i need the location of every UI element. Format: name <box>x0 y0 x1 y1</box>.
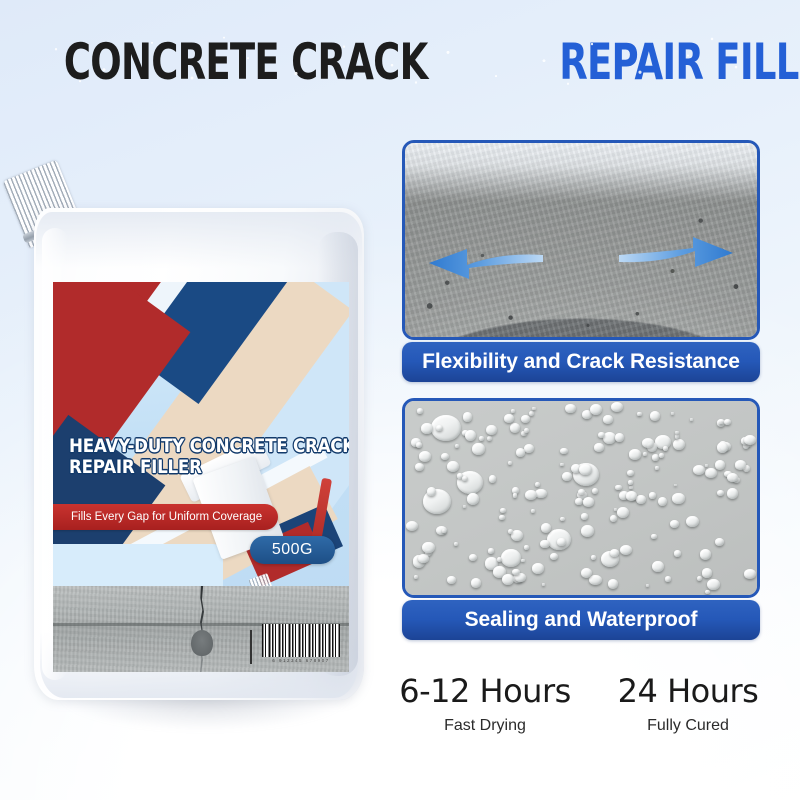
water-droplet <box>501 549 521 567</box>
water-droplet <box>637 412 642 417</box>
stat-fully-cured: 24 Hours Fully Cured <box>598 672 778 738</box>
water-droplet <box>550 553 558 560</box>
water-droplet <box>516 448 525 457</box>
water-droplet <box>659 453 664 458</box>
pouch-top-fold <box>36 212 362 268</box>
water-droplet <box>442 529 446 533</box>
water-droplet <box>627 470 634 476</box>
water-droplet <box>620 545 632 555</box>
water-droplet <box>508 461 512 465</box>
water-droplet <box>502 574 514 585</box>
water-droplet <box>417 408 423 414</box>
water-droplet <box>463 412 472 421</box>
water-droplet <box>615 485 621 491</box>
water-droplet <box>565 404 575 413</box>
stat-fully-cured-value: 24 Hours <box>598 672 778 710</box>
water-droplet <box>724 419 731 425</box>
water-droplet <box>454 542 458 546</box>
arrow-right-icon <box>619 235 735 281</box>
product-pouch: HEAVY-DUTY CONCRETE CRACK REPAIR FILLER … <box>0 160 400 760</box>
water-droplet <box>471 578 481 588</box>
water-droplet <box>540 540 550 548</box>
water-droplet <box>697 576 702 581</box>
barcode: 6 912345 678907 <box>262 624 340 666</box>
water-droplet <box>531 509 535 513</box>
water-droplet <box>611 402 623 413</box>
water-droplet <box>615 433 624 442</box>
stat-fast-drying-value: 6-12 Hours <box>390 672 580 710</box>
water-droplet <box>671 412 674 415</box>
water-droplet <box>542 583 545 586</box>
water-droplet <box>651 534 657 540</box>
water-droplet <box>512 569 520 575</box>
water-droplet <box>581 513 589 520</box>
water-droplet <box>513 493 518 497</box>
water-droplet <box>617 507 629 518</box>
water-droplet <box>589 575 602 585</box>
water-droplet <box>603 415 614 424</box>
water-droplet <box>575 498 582 505</box>
water-droplet <box>499 515 505 520</box>
feature-caption-waterproof: Sealing and Waterproof <box>402 600 760 640</box>
water-droplet <box>419 451 431 461</box>
pouch-body: HEAVY-DUTY CONCRETE CRACK REPAIR FILLER … <box>34 208 364 700</box>
water-droplet <box>649 492 656 498</box>
water-droplet <box>500 508 506 513</box>
water-droplet <box>610 515 617 522</box>
stat-fast-drying-label: Fast Drying <box>390 714 580 738</box>
water-droplet <box>441 453 450 460</box>
water-droplet <box>715 538 725 546</box>
water-droplet <box>562 472 572 481</box>
water-droplet <box>686 516 699 527</box>
water-droplet <box>416 442 423 448</box>
water-droplet <box>705 464 709 467</box>
water-droplet <box>642 438 654 448</box>
water-droplet <box>643 452 647 456</box>
water-droplet <box>418 554 429 563</box>
water-droplet <box>462 476 468 481</box>
water-droplets-photo <box>405 401 757 595</box>
water-droplet <box>707 579 720 590</box>
water-droplet <box>628 480 633 485</box>
filler-pool <box>191 630 213 656</box>
water-droplet <box>690 418 693 421</box>
feature-caption-flexibility: Flexibility and Crack Resistance <box>402 342 760 382</box>
water-droplet <box>717 490 724 496</box>
label-headline: HEAVY-DUTY CONCRETE CRACK REPAIR FILLER <box>69 436 343 478</box>
water-droplet <box>529 411 534 416</box>
water-droplet <box>463 505 466 508</box>
water-droplet <box>744 569 756 579</box>
water-droplet <box>415 463 424 471</box>
water-droplet <box>479 436 484 441</box>
water-droplet <box>532 563 545 574</box>
water-droplet <box>629 449 640 459</box>
water-droplet <box>406 521 418 531</box>
water-droplet <box>541 523 551 533</box>
water-droplet <box>488 548 494 553</box>
water-droplet <box>557 538 565 545</box>
water-droplet <box>487 436 492 441</box>
arrow-left-icon <box>427 235 543 281</box>
water-droplet <box>674 550 681 557</box>
barcode-bars <box>262 624 340 657</box>
water-droplet <box>675 431 678 434</box>
water-droplet <box>581 525 594 537</box>
water-droplet <box>594 443 604 451</box>
water-droplet <box>636 495 646 504</box>
water-droplet <box>702 568 712 577</box>
water-droplet <box>744 435 756 445</box>
water-droplet <box>560 463 563 466</box>
water-droplet <box>472 443 484 455</box>
water-droplet <box>486 425 497 436</box>
water-droplet <box>521 559 524 562</box>
water-droplet <box>705 590 710 594</box>
water-droplet <box>717 442 728 453</box>
water-droplet <box>525 490 537 501</box>
water-droplet <box>673 439 685 451</box>
water-droplet <box>658 497 667 506</box>
water-droplet <box>591 555 596 560</box>
water-droplet <box>535 482 540 487</box>
water-droplet <box>436 425 442 431</box>
water-droplet <box>655 466 659 470</box>
water-droplet <box>579 464 591 475</box>
water-droplet <box>705 468 717 478</box>
page-title-part-2: REPAIR FILLER <box>559 34 800 90</box>
water-droplet <box>489 475 496 482</box>
stat-fully-cured-label: Fully Cured <box>598 714 778 738</box>
feature-panel-waterproof <box>402 398 760 598</box>
water-droplet <box>592 488 598 494</box>
water-droplet <box>665 576 671 582</box>
label-headline-line-1: HEAVY-DUTY CONCRETE CRACK <box>69 436 310 457</box>
water-droplet <box>715 460 725 470</box>
page-title: CONCRETE CRACK REPAIR FILLER <box>0 34 800 90</box>
water-droplet <box>532 407 536 411</box>
water-droplet <box>608 579 618 589</box>
water-droplet <box>693 465 705 475</box>
water-droplet <box>727 488 738 498</box>
water-droplet <box>560 448 567 454</box>
page-title-part-1: CONCRETE CRACK <box>64 34 428 90</box>
water-droplet <box>422 542 434 553</box>
water-droplet <box>650 411 660 420</box>
label-tagline-banner: Fills Every Gap for Uniform Coverage <box>53 504 278 530</box>
water-droplet <box>524 444 534 453</box>
feature-panel-flexibility <box>402 140 760 340</box>
water-droplet <box>521 415 530 423</box>
water-droplet <box>629 486 633 489</box>
label-headline-line-2: REPAIR FILLER <box>69 457 310 478</box>
water-droplet <box>674 484 677 487</box>
water-droplet <box>455 444 460 448</box>
water-droplet <box>467 493 479 505</box>
water-droplet <box>469 554 477 561</box>
water-droplet <box>610 549 619 557</box>
water-droplet <box>646 584 649 587</box>
water-droplet <box>414 575 418 579</box>
water-droplet <box>581 568 592 578</box>
barcode-separator <box>250 630 252 664</box>
water-droplet <box>719 421 722 424</box>
water-droplet <box>663 446 668 450</box>
water-droplet <box>535 489 547 499</box>
water-droplets <box>405 401 757 595</box>
water-droplet <box>590 404 602 415</box>
water-droplet <box>504 414 514 423</box>
water-droplet <box>672 493 685 503</box>
water-droplet <box>583 497 594 507</box>
weight-badge: 500G <box>250 536 335 564</box>
water-droplet <box>524 545 529 549</box>
product-label: HEAVY-DUTY CONCRETE CRACK REPAIR FILLER … <box>53 282 349 672</box>
water-droplet <box>465 430 476 441</box>
barcode-digits: 6 912345 678907 <box>272 658 330 663</box>
water-droplet <box>700 549 712 560</box>
water-droplet <box>598 432 605 438</box>
water-droplet <box>447 576 456 584</box>
water-droplet <box>560 517 564 521</box>
water-droplet <box>447 461 459 472</box>
water-droplet <box>524 428 529 433</box>
water-droplet <box>670 520 679 528</box>
water-droplet <box>511 409 515 413</box>
water-droplet <box>421 423 433 434</box>
stat-fast-drying: 6-12 Hours Fast Drying <box>390 672 580 738</box>
water-droplet <box>510 423 520 433</box>
water-droplet <box>652 561 664 572</box>
